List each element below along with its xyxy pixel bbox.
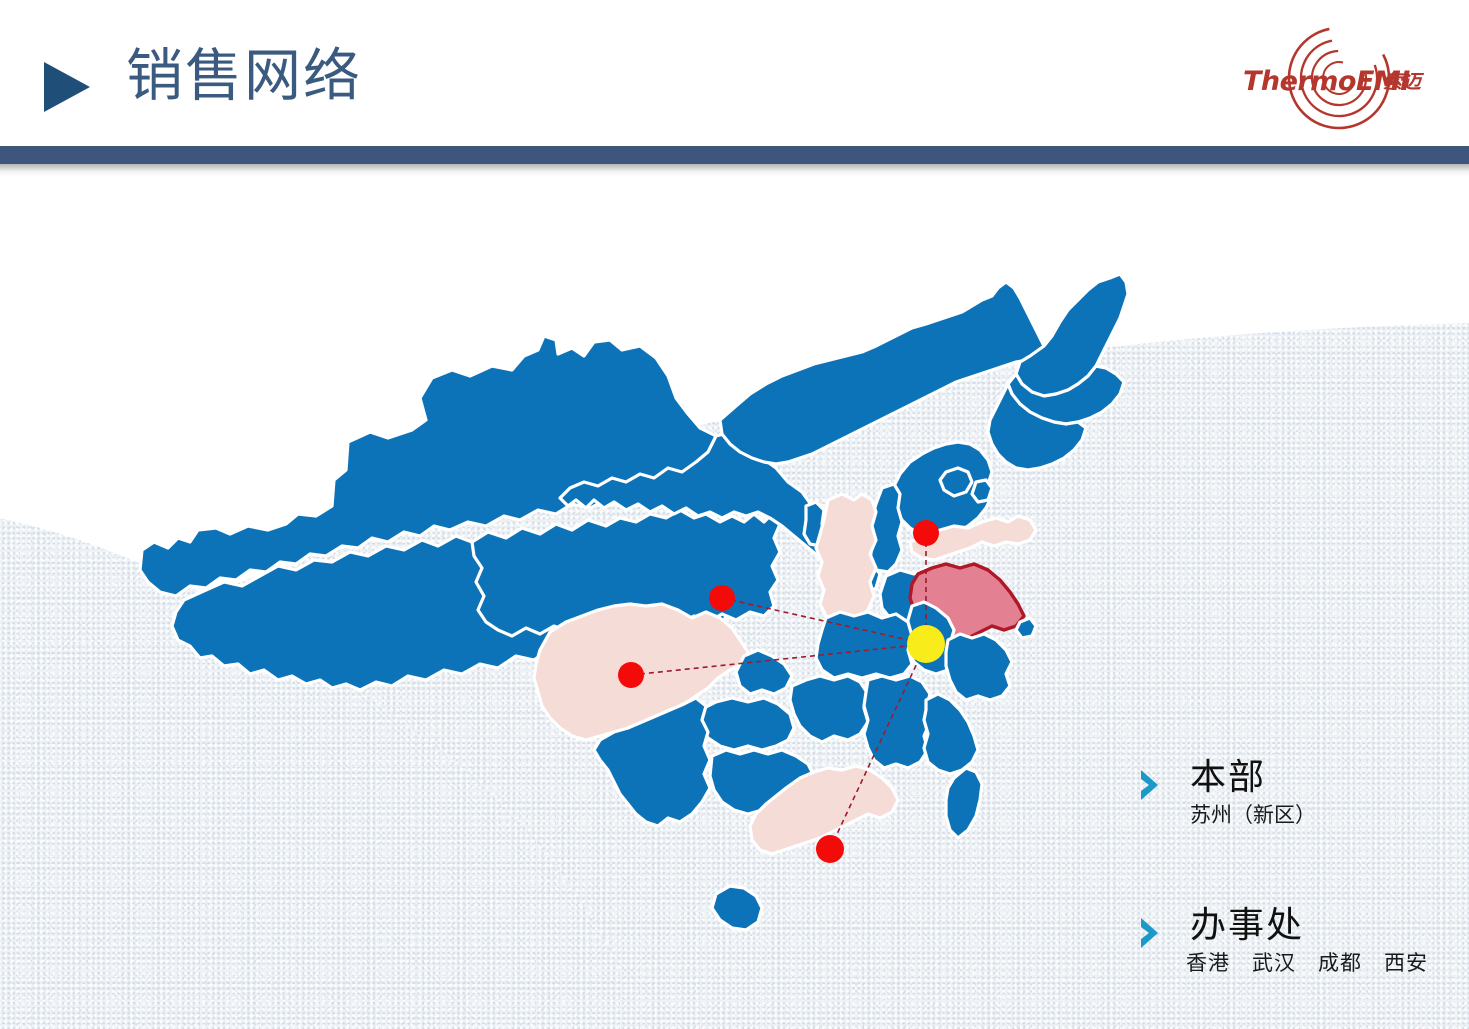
legend-subtitle-headquarters: 苏州（新区） (1190, 802, 1458, 828)
legend-group-offices: 办事处 香港 武汉 成都 西安 (1138, 906, 1458, 976)
office-marker-red[interactable] (816, 835, 844, 863)
province-guizhou (700, 698, 794, 750)
legend-title-headquarters: 本部 (1190, 758, 1458, 798)
logo: ThermoEMI 索迈 (1221, 22, 1439, 134)
header-divider-band (0, 146, 1469, 164)
province-zhejiang (946, 634, 1012, 700)
legend-title-offices: 办事处 (1190, 906, 1458, 946)
china-map (120, 170, 1130, 960)
municipality-chongqing (736, 650, 792, 694)
legend-subtitle-offices: 香港 武汉 成都 西安 (1186, 950, 1458, 976)
municipality-beijing (940, 468, 972, 496)
triangle-right-icon (44, 62, 90, 112)
page-title: 销售网络 (126, 44, 362, 108)
municipality-tianjin (972, 480, 992, 502)
hq-marker-yellow[interactable] (907, 625, 945, 663)
chevron-right-icon (1138, 768, 1164, 802)
office-marker-red[interactable] (913, 520, 939, 546)
province-shaanxi-highlight (816, 494, 876, 622)
legend: 本部 苏州（新区） 办事处 香港 武汉 成都 西安 (1138, 758, 1458, 976)
chevron-right-icon (1138, 916, 1164, 950)
province-fujian (924, 694, 978, 774)
province-taiwan (946, 768, 982, 838)
slide-canvas: 销售网络 ThermoEMI 索迈 (0, 0, 1469, 1029)
office-marker-red[interactable] (618, 662, 644, 688)
concentric-arcs-icon: ThermoEMI 索迈 (1221, 22, 1439, 134)
logo-wordmark-cn: 索迈 (1383, 71, 1425, 93)
province-hunan (790, 676, 868, 742)
province-jiangxi (864, 676, 930, 768)
province-hainan (712, 886, 762, 930)
legend-group-headquarters: 本部 苏州（新区） (1138, 758, 1458, 828)
municipality-shanghai (1016, 618, 1036, 638)
office-marker-red[interactable] (709, 585, 735, 611)
